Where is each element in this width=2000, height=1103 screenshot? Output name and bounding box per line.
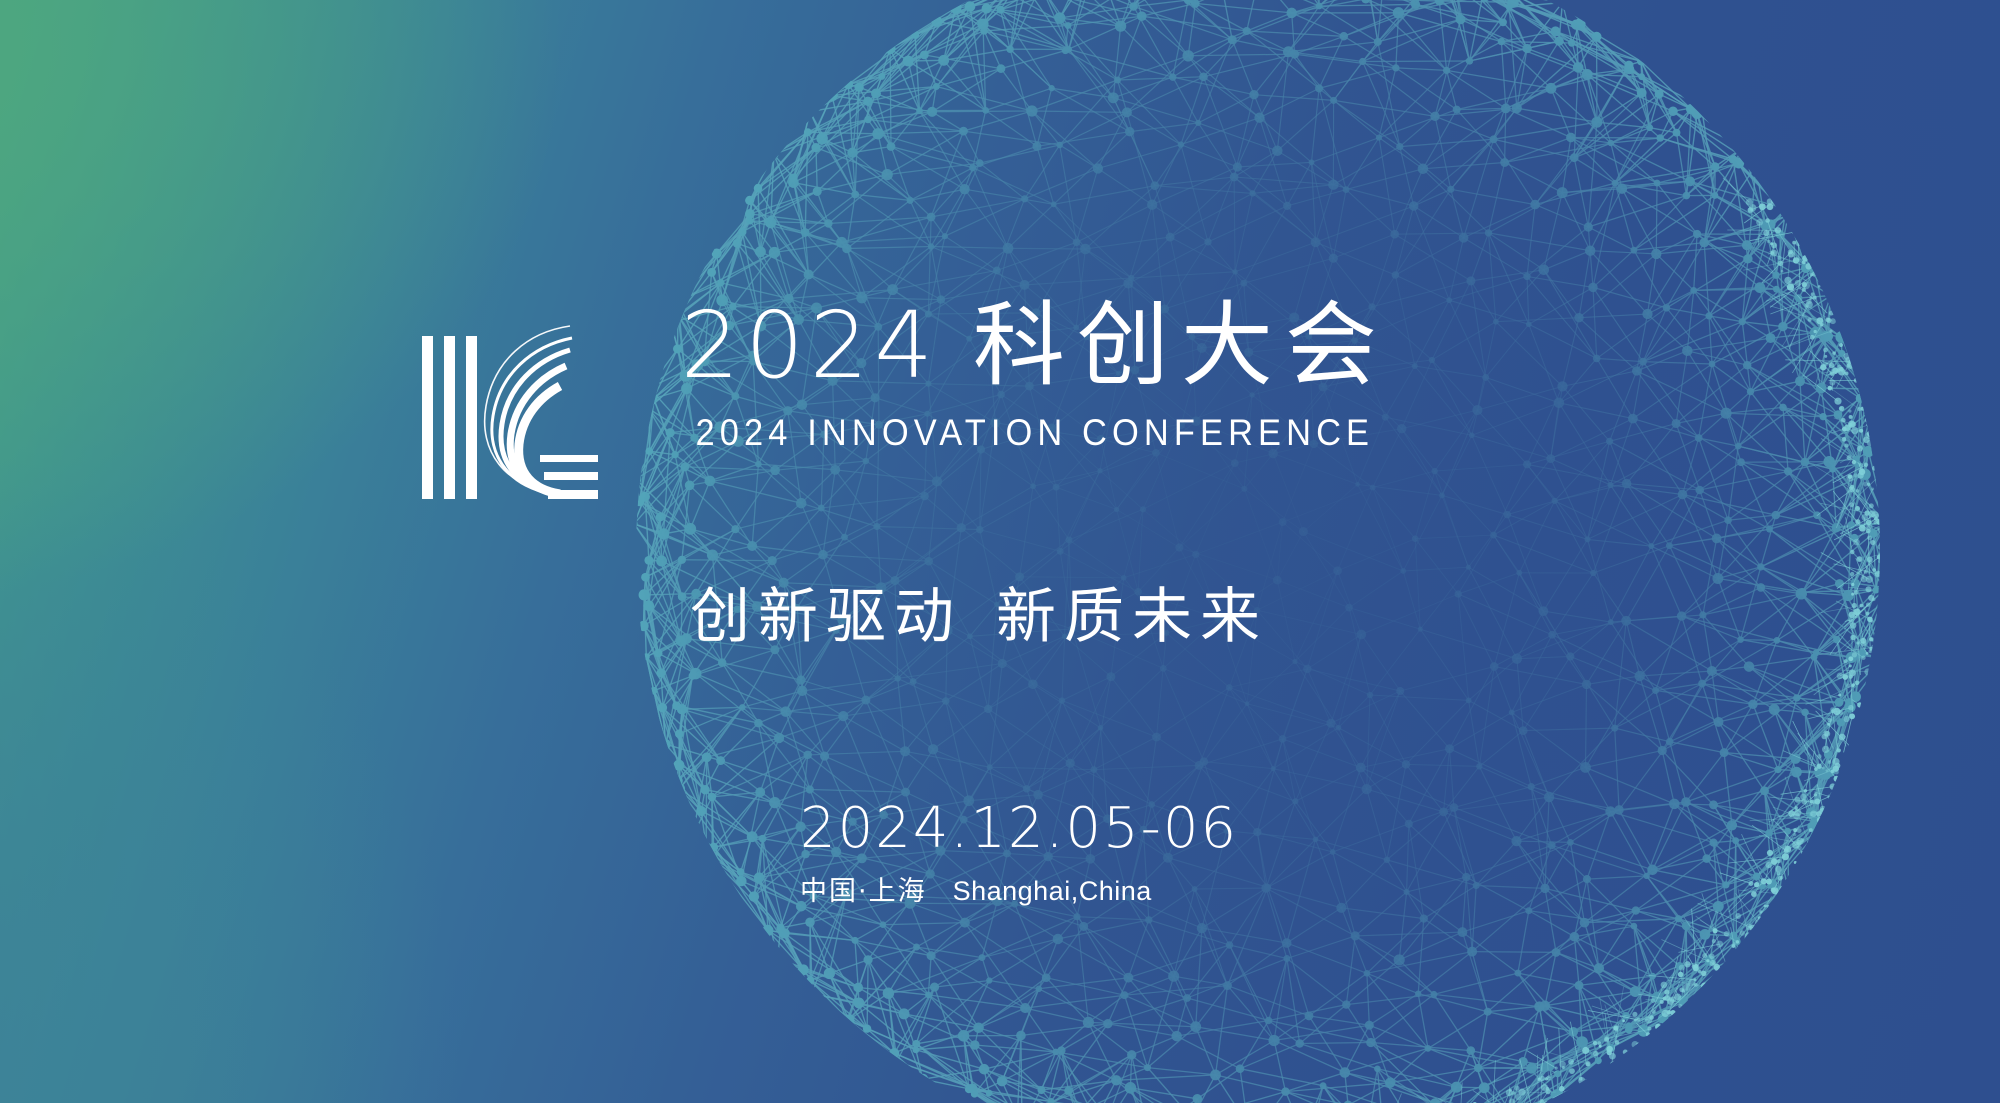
location-chinese: 中国·上海 bbox=[800, 869, 927, 908]
location-english: Shanghai,China bbox=[953, 876, 1152, 907]
title-year: 2024 bbox=[681, 300, 939, 392]
event-details: 2024.12.05-06 中国·上海 Shanghai,China bbox=[800, 800, 1238, 908]
title-block: 2024科创大会 2024 INNOVATION CONFERENCE bbox=[670, 300, 1400, 454]
conference-logo-icon bbox=[420, 314, 598, 499]
event-location: 中国·上海 Shanghai,China bbox=[800, 869, 1238, 908]
title-chinese: 科创大会 bbox=[973, 300, 1389, 392]
tagline-part-1: 创新驱动 bbox=[690, 582, 962, 652]
event-date: 2024.12.05-06 bbox=[800, 800, 1238, 859]
subtitle-english: 2024 INNOVATION CONFERENCE bbox=[696, 412, 1375, 454]
conference-banner: 2024科创大会 2024 INNOVATION CONFERENCE 创新驱动… bbox=[0, 0, 2000, 1103]
main-title: 2024科创大会 bbox=[681, 300, 1389, 392]
tagline-part-2: 新质未来 bbox=[996, 582, 1268, 652]
tagline: 创新驱动新质未来 bbox=[690, 568, 1268, 655]
logo-title-lockup: 2024科创大会 2024 INNOVATION CONFERENCE bbox=[420, 300, 1400, 499]
